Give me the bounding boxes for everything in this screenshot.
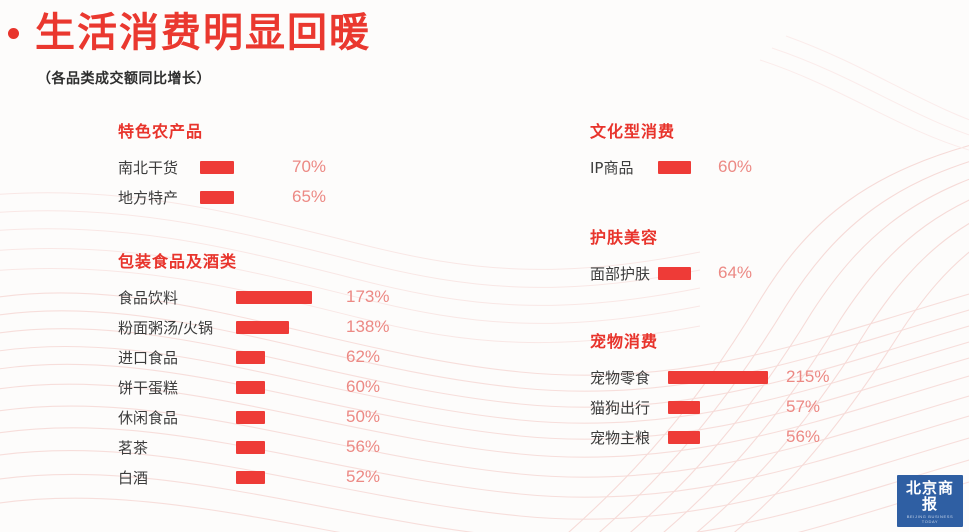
- data-row: 地方特产 65%: [118, 182, 498, 212]
- section-cultural-consumption: 文化型消费 IP商品 60%: [590, 118, 950, 182]
- row-label: 宠物主粮: [590, 427, 668, 448]
- data-row: 猫狗出行 57%: [590, 392, 950, 422]
- bar: [236, 321, 289, 334]
- data-row: 休闲食品 50%: [118, 402, 498, 432]
- row-value: 60%: [718, 157, 778, 177]
- logo-box: 北京商报 BEIJING BUSINESS TODAY: [897, 475, 963, 527]
- bar-track: [236, 411, 346, 424]
- row-label: 粉面粥汤/火锅: [118, 317, 236, 338]
- row-label: IP商品: [590, 157, 658, 178]
- row-value: 57%: [786, 397, 846, 417]
- data-row: 宠物零食 215%: [590, 362, 950, 392]
- bar: [668, 401, 700, 414]
- section-rows: IP商品 60%: [590, 152, 950, 182]
- section-rows: 宠物零食 215% 猫狗出行 57% 宠物主粮: [590, 362, 950, 452]
- section-rows: 南北干货 70% 地方特产 65%: [118, 152, 498, 212]
- publisher-logo: 北京商报 BEIJING BUSINESS TODAY: [897, 475, 963, 527]
- data-row: 食品饮料 173%: [118, 282, 498, 312]
- bar: [200, 191, 234, 204]
- data-row: 粉面粥汤/火锅 138%: [118, 312, 498, 342]
- row-label: 猫狗出行: [590, 397, 668, 418]
- bar-track: [236, 441, 346, 454]
- right-column: 文化型消费 IP商品 60% 护肤美容 面部护肤: [590, 118, 950, 452]
- section-title: 护肤美容: [590, 224, 950, 248]
- bar: [236, 441, 265, 454]
- row-label: 南北干货: [118, 157, 200, 178]
- bar-track: [236, 321, 346, 334]
- bar: [658, 161, 691, 174]
- page-title: 生活消费明显回暖: [35, 10, 371, 56]
- infographic-canvas: 生活消费明显回暖 （各品类成交额同比增长） 特色农产品 南北干货 70% 地方特…: [0, 0, 969, 532]
- bar-track: [668, 371, 786, 384]
- row-value: 60%: [346, 377, 406, 397]
- row-value: 64%: [718, 263, 778, 283]
- section-title: 宠物消费: [590, 328, 950, 352]
- row-label: 地方特产: [118, 187, 200, 208]
- row-label: 进口食品: [118, 347, 236, 368]
- bar-track: [236, 351, 346, 364]
- logo-english-name: BEIJING BUSINESS TODAY: [901, 514, 959, 524]
- bar: [236, 471, 265, 484]
- bar-track: [200, 161, 292, 174]
- section-rows: 面部护肤 64%: [590, 258, 950, 288]
- section-specialty-agriculture: 特色农产品 南北干货 70% 地方特产 65%: [118, 118, 498, 212]
- section-pet-consumption: 宠物消费 宠物零食 215% 猫狗出行 57% 宠物主粮: [590, 328, 950, 452]
- row-label: 面部护肤: [590, 263, 658, 284]
- data-row: 白酒 52%: [118, 462, 498, 492]
- bar: [236, 411, 265, 424]
- row-value: 52%: [346, 467, 406, 487]
- row-label: 食品饮料: [118, 287, 236, 308]
- bullet-dot-icon: [8, 28, 19, 39]
- data-row: 南北干货 70%: [118, 152, 498, 182]
- row-label: 茗茶: [118, 437, 236, 458]
- data-row: 茗茶 56%: [118, 432, 498, 462]
- section-spacer: [118, 212, 498, 248]
- bar-track: [658, 161, 718, 174]
- data-row: IP商品 60%: [590, 152, 950, 182]
- section-spacer: [590, 182, 950, 224]
- bar-track: [668, 431, 786, 444]
- bar: [236, 291, 312, 304]
- bar-track: [658, 267, 718, 280]
- bar-track: [668, 401, 786, 414]
- bar: [668, 431, 700, 444]
- page-subtitle: （各品类成交额同比增长）: [37, 68, 211, 88]
- row-value: 138%: [346, 317, 406, 337]
- data-row: 饼干蛋糕 60%: [118, 372, 498, 402]
- data-row: 宠物主粮 56%: [590, 422, 950, 452]
- data-row: 进口食品 62%: [118, 342, 498, 372]
- section-rows: 食品饮料 173% 粉面粥汤/火锅 138% 进口食品: [118, 282, 498, 492]
- row-value: 56%: [786, 427, 846, 447]
- data-row: 面部护肤 64%: [590, 258, 950, 288]
- bar: [658, 267, 691, 280]
- row-label: 休闲食品: [118, 407, 236, 428]
- bar: [236, 381, 265, 394]
- row-value: 62%: [346, 347, 406, 367]
- row-label: 宠物零食: [590, 367, 668, 388]
- bar-track: [236, 471, 346, 484]
- bar: [200, 161, 234, 174]
- section-skincare-beauty: 护肤美容 面部护肤 64%: [590, 224, 950, 288]
- section-spacer: [590, 288, 950, 328]
- row-value: 56%: [346, 437, 406, 457]
- logo-chinese-name: 北京商报: [901, 480, 959, 512]
- section-packaged-food-and-liquor: 包装食品及酒类 食品饮料 173% 粉面粥汤/火锅 138%: [118, 248, 498, 492]
- bar-track: [200, 191, 292, 204]
- section-title: 包装食品及酒类: [118, 248, 498, 272]
- section-title: 特色农产品: [118, 118, 498, 142]
- left-column: 特色农产品 南北干货 70% 地方特产 65%: [118, 118, 498, 492]
- row-label: 白酒: [118, 467, 236, 488]
- bar: [236, 351, 265, 364]
- bar: [668, 371, 768, 384]
- section-title: 文化型消费: [590, 118, 950, 142]
- row-value: 70%: [292, 157, 352, 177]
- row-value: 65%: [292, 187, 352, 207]
- row-value: 50%: [346, 407, 406, 427]
- row-value: 215%: [786, 367, 846, 387]
- row-value: 173%: [346, 287, 406, 307]
- bar-track: [236, 381, 346, 394]
- row-label: 饼干蛋糕: [118, 377, 236, 398]
- bar-track: [236, 291, 346, 304]
